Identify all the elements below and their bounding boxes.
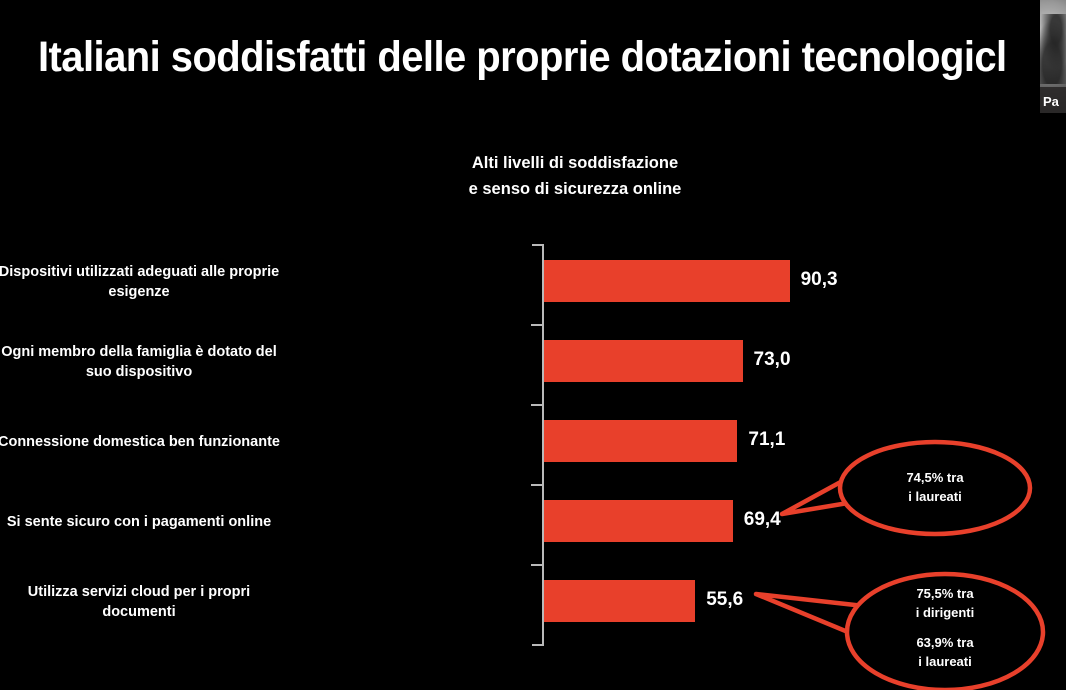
bar-segment: [544, 340, 743, 382]
bar-segment: [544, 420, 737, 462]
axis-cap-bottom: [532, 644, 543, 646]
bar-category-label: Ogni membro della famiglia è dotato del …: [0, 342, 304, 382]
bar-chart: Dispositivi utilizzati adeguati alle pro…: [0, 236, 1066, 656]
participant-name-label: Pa: [1043, 94, 1066, 109]
callout-text-pagamenti: 74,5% tra i laureati: [855, 468, 1015, 506]
bar-segment: [544, 260, 790, 302]
bar-segment: [544, 500, 733, 542]
callout-text-cloud: 75,5% tra i dirigenti 63,9% tra i laurea…: [865, 584, 1025, 671]
callout-line-2: i dirigenti: [865, 603, 1025, 622]
bar-category-label-line-1: Utilizza servizi cloud per i propri: [0, 582, 304, 602]
chart-subtitle: Alti livelli di soddisfazione e senso di…: [400, 150, 750, 202]
bar-category-label: Utilizza servizi cloud per i propri docu…: [0, 582, 304, 622]
bar-category-label: Dispositivi utilizzati adeguati alle pro…: [0, 262, 304, 302]
participant-name-bar: Pa: [1040, 87, 1066, 113]
chart-subtitle-line-2: e senso di sicurezza online: [400, 176, 750, 202]
participant-silhouette: [1040, 14, 1066, 84]
page-title: Italiani soddisfatti delle proprie dotaz…: [38, 26, 1015, 88]
bar-category-label: Connessione domestica ben funzionante: [0, 432, 304, 452]
bar-category-label-line-1: Ogni membro della famiglia è dotato del: [0, 342, 304, 362]
video-participant-tile[interactable]: Pa: [1040, 0, 1066, 113]
callout-line-1: 75,5% tra: [865, 584, 1025, 603]
presentation-slide: Italiani soddisfatti delle proprie dotaz…: [0, 0, 1066, 690]
bar-category-label-line-2: documenti: [0, 602, 304, 622]
bar-category-label-line-1: Si sente sicuro con i pagamenti online: [0, 512, 304, 532]
bar-category-label-line-1: Connessione domestica ben funzionante: [0, 432, 304, 452]
bar-row: Dispositivi utilizzati adeguati alle pro…: [0, 236, 1066, 324]
bar-value-label: 90,3: [801, 269, 838, 291]
chart-subtitle-line-1: Alti livelli di soddisfazione: [400, 150, 750, 176]
callout-spacer: [865, 622, 1025, 633]
bar-category-label-line-2: suo dispositivo: [0, 362, 304, 382]
bar-category-label-line-2: esigenze: [0, 282, 304, 302]
callout-line-2: i laureati: [855, 487, 1015, 506]
callout-line-3: 63,9% tra: [865, 633, 1025, 652]
bar-value-label: 55,6: [706, 589, 743, 611]
bar-category-label-line-1: Dispositivi utilizzati adeguati alle pro…: [0, 262, 304, 282]
callout-line-4: i laureati: [865, 652, 1025, 671]
bar-row: Ogni membro della famiglia è dotato del …: [0, 316, 1066, 404]
bar-segment: [544, 580, 695, 622]
bar-value-label: 73,0: [754, 349, 791, 371]
callout-line-1: 74,5% tra: [855, 468, 1015, 487]
bar-category-label: Si sente sicuro con i pagamenti online: [0, 512, 304, 532]
